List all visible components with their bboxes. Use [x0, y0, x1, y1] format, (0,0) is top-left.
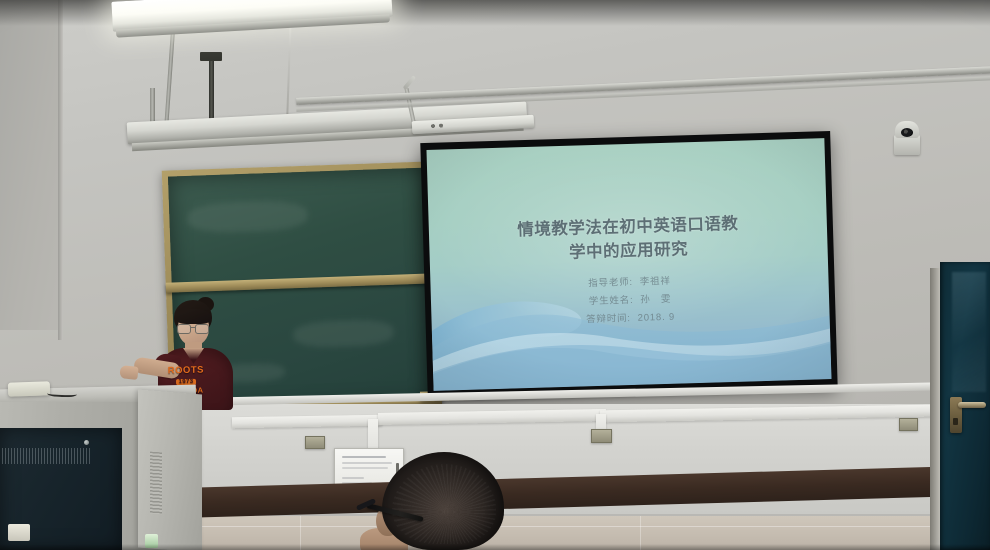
camera-lens-icon: [901, 128, 913, 137]
projection-screen: 情境教学法在初中英语口语教 学中的应用研究 指导老师: 李祖祥 学生姓名: 孙 …: [420, 131, 837, 400]
hair-strands: [392, 464, 496, 544]
door-reflection: [952, 272, 986, 392]
podium-vent-grille: [150, 452, 162, 515]
classroom-photo-scene: 情境教学法在初中英语口语教 学中的应用研究 指导老师: 李祖祥 学生姓名: 孙 …: [0, 0, 990, 550]
phone-cord: [47, 388, 77, 397]
hair-fringe: [176, 309, 211, 324]
door-keyhole-icon: [953, 418, 958, 425]
podium-object: [8, 524, 30, 541]
wall-corner-edge: [58, 0, 63, 340]
cabinet-vent-grille: [2, 448, 92, 464]
hand: [119, 365, 138, 380]
audience-member-head: [382, 452, 532, 550]
tshirt-print-brand: ROOTS: [160, 366, 212, 377]
podium-side-panel: [138, 389, 202, 550]
glasses-icon: [177, 324, 209, 332]
security-camera-mount: [894, 135, 920, 155]
door-handle-icon[interactable]: [958, 402, 986, 408]
left-wall-return: [0, 0, 62, 330]
hair: [382, 452, 504, 550]
desk-phone[interactable]: [8, 381, 50, 396]
power-outlet: [305, 436, 325, 449]
power-outlet: [899, 418, 918, 431]
podium-object: [145, 534, 158, 548]
presentation-slide: 情境教学法在初中英语口语教 学中的应用研究 指导老师: 李祖祥 学生姓名: 孙 …: [426, 138, 831, 391]
cabinet-screw: [84, 440, 89, 445]
power-outlet: [591, 429, 612, 443]
